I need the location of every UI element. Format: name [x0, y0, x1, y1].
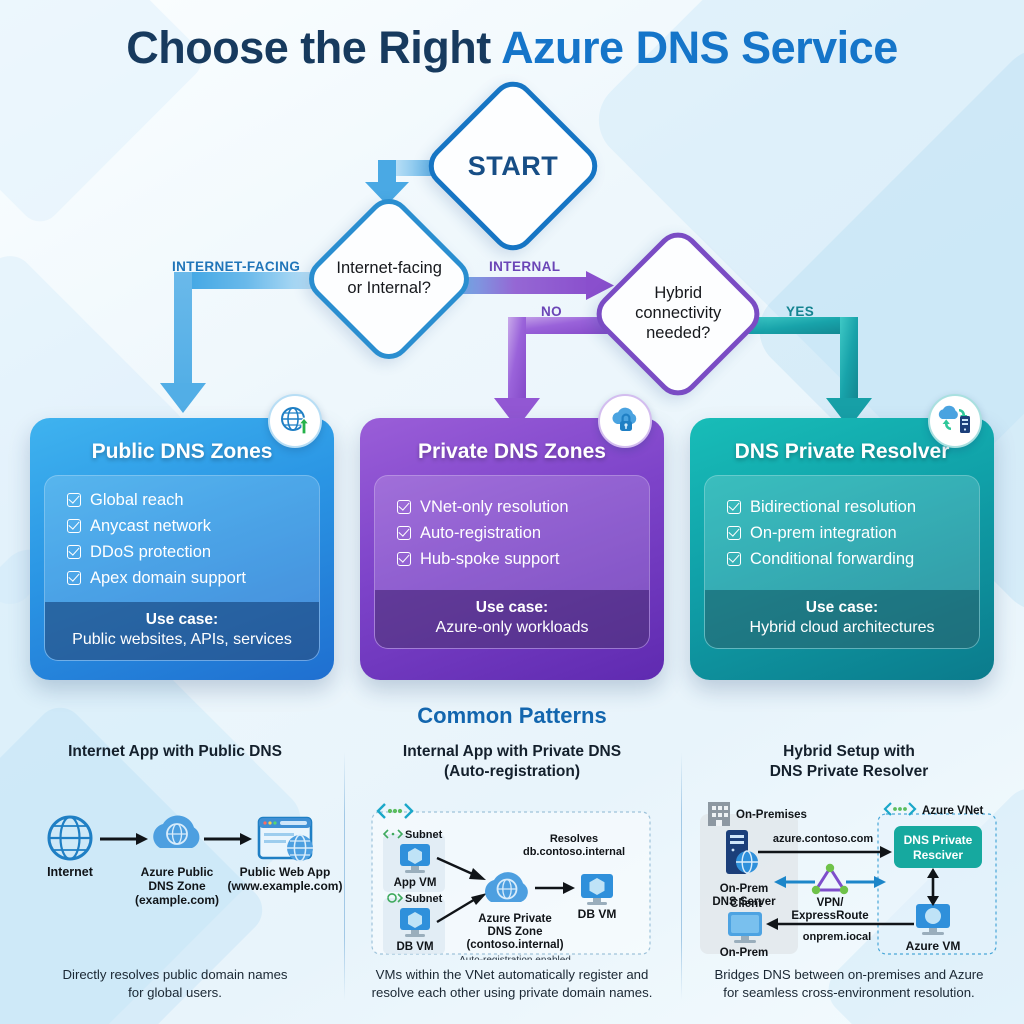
question1-line2: or Internal? — [347, 279, 430, 297]
use-case-text: Public websites, APIs, services — [55, 631, 309, 649]
edge-label-internal: INTERNAL — [489, 259, 560, 274]
card-dns-private-resolver[interactable]: DNS Private Resolver Bidirectional resol… — [690, 418, 994, 680]
feature-item: Auto-registration — [397, 520, 633, 546]
use-case-label: Use case: — [55, 611, 309, 629]
common-patterns-heading: Common Patterns — [0, 703, 1024, 729]
vpn-triangle-icon — [812, 864, 848, 894]
feature-item: Anycast network — [67, 513, 303, 539]
check-icon — [727, 526, 741, 540]
question1-line1: Internet-facing — [336, 259, 441, 277]
node-label-db-vm-right: DB VM — [578, 907, 617, 921]
node-label-autoreg: Auto-registration enabled — [459, 955, 571, 960]
caption-line-1: Directly resolves public domain names — [62, 967, 287, 982]
node-label-zone-1: Azure Public — [141, 865, 214, 879]
azure-public-dns-zone-icon — [153, 815, 199, 848]
check-icon — [67, 571, 81, 585]
pattern-panel-internal-app: Internal App with Private DNS (Auto-regi… — [345, 742, 679, 1010]
use-case-block: Use case: Azure-only workloads — [375, 590, 649, 648]
link-label-vpn-2: ExpressRoute — [791, 910, 868, 922]
feature-item: VNet-only resolution — [397, 494, 633, 520]
check-icon — [397, 500, 411, 514]
edge-label-internet-facing: INTERNET-FACING — [172, 259, 300, 274]
node-label-vnet-group: Azure VNet — [922, 805, 984, 817]
feature-label: Apex domain support — [90, 565, 246, 591]
node-label-subnet-2: Subnet — [405, 893, 443, 905]
cloud-lock-icon — [598, 394, 652, 448]
node-label-client-2: Client — [726, 898, 766, 910]
card-body: VNet-only resolution Auto-registration H… — [374, 475, 650, 649]
edge-label-no: NO — [541, 304, 562, 319]
caption-line-2: for global users. — [128, 985, 222, 1000]
node-label-zone-1: Azure Private — [478, 913, 552, 925]
arrow-internet-facing — [160, 272, 334, 413]
panel-title: Internet App with Public DNS — [8, 742, 342, 762]
feature-label: DDoS protection — [90, 539, 211, 565]
pattern-panel-hybrid-setup: Hybrid Setup with DNS Private Resolver O… — [682, 742, 1016, 1010]
feature-list: Global reach Anycast network DDoS protec… — [45, 476, 319, 602]
feature-label: Anycast network — [90, 513, 211, 539]
feature-item: On-prem integration — [727, 520, 963, 546]
feature-label: On-prem integration — [750, 520, 897, 546]
link-label-vpn-1: VPN/ — [817, 897, 845, 909]
arrow-yes — [740, 317, 872, 428]
panel-caption: Directly resolves public domain names fo… — [12, 966, 338, 1002]
use-case-text: Azure-only workloads — [385, 619, 639, 637]
node-label-resolver-2: Resciver — [913, 848, 963, 862]
node-label-zone-3: (contoso.internal) — [466, 939, 563, 951]
question2-line2: connectivity — [635, 304, 721, 322]
cloud-sync-server-icon — [928, 394, 982, 448]
node-label-zone-2: DNS Zone — [148, 879, 206, 893]
check-icon — [67, 545, 81, 559]
feature-label: VNet-only resolution — [420, 494, 569, 520]
use-case-text: Hybrid cloud architectures — [715, 619, 969, 637]
question2-label: Hybrid connectivity needed? — [619, 284, 737, 343]
vnet-icon — [885, 803, 915, 815]
globe-icon — [49, 817, 91, 859]
panel-title: Hybrid Setup with DNS Private Resolver — [682, 742, 1016, 782]
start-label: START — [468, 150, 559, 182]
arrow-internet-to-zone — [100, 833, 148, 845]
question1-label: Internet-facing or Internal? — [331, 259, 447, 299]
node-label-db-vm-left: DB VM — [396, 941, 433, 953]
arrow-internal — [452, 271, 614, 300]
node-label-app-vm: App VM — [394, 877, 437, 889]
panel-caption: VMs within the VNet automatically regist… — [349, 966, 675, 1002]
node-label-onprem-group: On-Premises — [736, 809, 807, 821]
node-label-internet: Internet — [47, 865, 94, 879]
building-icon — [708, 802, 730, 826]
feature-label: Bidirectional resolution — [750, 494, 916, 520]
feature-item: DDoS protection — [67, 539, 303, 565]
node-label-resolves-1: Resolves — [550, 833, 598, 845]
panel-title: Internal App with Private DNS (Auto-regi… — [345, 742, 679, 782]
caption-line-2: for seamless cross-environment resolutio… — [723, 985, 974, 1000]
use-case-label: Use case: — [715, 599, 969, 617]
node-label-dns-server-1: On-Prem — [720, 883, 769, 895]
panel-diagram: Subnet App VM Subnet — [345, 800, 679, 965]
feature-item: Bidirectional resolution — [727, 494, 963, 520]
caption-line-2: resolve each other using private domain … — [372, 985, 653, 1000]
edge-label-yes: YES — [786, 304, 814, 319]
card-title: Public DNS Zones — [44, 440, 320, 464]
node-label-zone-3: (example.com) — [135, 893, 219, 907]
question2-line1: Hybrid — [654, 284, 702, 302]
node-label-azure-vm: Azure VM — [906, 939, 961, 953]
use-case-block: Use case: Hybrid cloud architectures — [705, 590, 979, 648]
feature-label: Hub-spoke support — [420, 546, 559, 572]
caption-line-1: Bridges DNS between on-premises and Azur… — [714, 967, 983, 982]
infographic-canvas: Choose the Right Azure DNS Service — [0, 0, 1024, 1024]
panel-diagram: Internet Azure Public DNS Zone (example.… — [8, 786, 342, 941]
panel-title-line-2: DNS Private Resolver — [770, 763, 929, 780]
feature-label: Auto-registration — [420, 520, 541, 546]
feature-item: Conditional forwarding — [727, 546, 963, 572]
panel-diagram: On-Premises On-Prem DNS Server — [682, 800, 1016, 965]
feature-label: Global reach — [90, 487, 184, 513]
card-body: Global reach Anycast network DDoS protec… — [44, 475, 320, 661]
feature-list: Bidirectional resolution On-prem integra… — [705, 476, 979, 590]
pattern-panel-internet-app: Internet App with Public DNS — [8, 742, 342, 1010]
feature-item: Global reach — [67, 487, 303, 513]
feature-item: Hub-spoke support — [397, 546, 633, 572]
public-web-app-icon — [259, 818, 313, 861]
node-label-client-1: On-Prem — [720, 947, 769, 959]
panel-title-line-1: Hybrid Setup with — [783, 743, 915, 760]
check-icon — [397, 552, 411, 566]
node-label-app-2: (www.example.com) — [228, 879, 342, 893]
panel-title-line-1: Internal App with Private DNS — [403, 743, 621, 760]
node-label-resolver-1: DNS Private — [904, 833, 973, 847]
use-case-block: Use case: Public websites, APIs, service… — [45, 602, 319, 660]
link-label-bottom: onprem.iocal — [803, 931, 871, 943]
card-body: Bidirectional resolution On-prem integra… — [704, 475, 980, 649]
use-case-label: Use case: — [385, 599, 639, 617]
check-icon — [397, 526, 411, 540]
card-title: Private DNS Zones — [374, 440, 650, 464]
check-icon — [727, 552, 741, 566]
feature-list: VNet-only resolution Auto-registration H… — [375, 476, 649, 590]
feature-item: Apex domain support — [67, 565, 303, 591]
node-label-zone-2: DNS Zone — [488, 926, 543, 938]
card-title: DNS Private Resolver — [704, 440, 980, 464]
question2-line3: needed? — [646, 324, 710, 342]
node-label-subnet-1: Subnet — [405, 829, 443, 841]
card-private-dns-zones[interactable]: Private DNS Zones VNet-only resolution A… — [360, 418, 664, 680]
globe-upload-icon — [268, 394, 322, 448]
arrow-zone-to-webapp — [204, 833, 252, 845]
card-public-dns-zones[interactable]: Public DNS Zones Global reach Anycast ne… — [30, 418, 334, 680]
caption-line-1: VMs within the VNet automatically regist… — [376, 967, 649, 982]
check-icon — [727, 500, 741, 514]
panel-caption: Bridges DNS between on-premises and Azur… — [686, 966, 1012, 1002]
node-label-resolves-2: db.contoso.internal — [523, 846, 625, 858]
panel-title-line-2: (Auto-registration) — [444, 763, 580, 780]
check-icon — [67, 493, 81, 507]
node-label-app-1: Public Web App — [240, 865, 331, 879]
check-icon — [67, 519, 81, 533]
link-label-top: azure.contoso.com — [773, 833, 873, 845]
feature-label: Conditional forwarding — [750, 546, 914, 572]
